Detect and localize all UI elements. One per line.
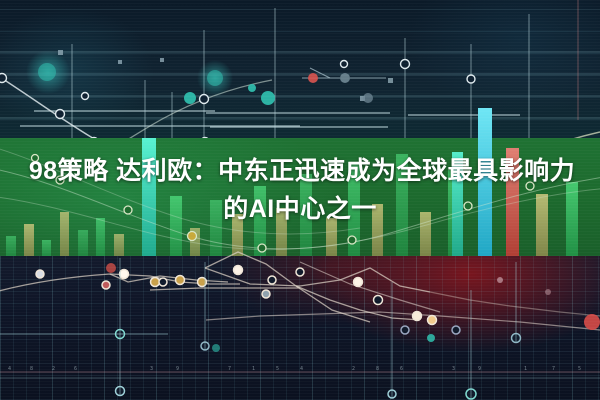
svg-text:5: 5 xyxy=(276,366,279,372)
svg-text:7: 7 xyxy=(552,366,555,372)
svg-text:2: 2 xyxy=(352,366,355,372)
svg-text:6: 6 xyxy=(400,366,403,372)
svg-text:4: 4 xyxy=(8,366,11,372)
svg-text:8: 8 xyxy=(30,366,33,372)
svg-text:5: 5 xyxy=(578,366,581,372)
svg-text:4: 4 xyxy=(300,366,303,372)
svg-text:3: 3 xyxy=(150,366,153,372)
svg-text:3: 3 xyxy=(452,366,455,372)
banner-image: 482 639 715 428 639 175 98策略 达利欧：中东正迅速成为… xyxy=(0,0,600,400)
network-line xyxy=(430,292,600,316)
network-line xyxy=(300,262,440,312)
network-line xyxy=(150,288,300,290)
network-line xyxy=(296,286,420,320)
network-line xyxy=(296,286,370,322)
svg-text:2: 2 xyxy=(52,366,55,372)
svg-text:1: 1 xyxy=(252,366,255,372)
headline-line-2: 的AI中心之一 xyxy=(0,190,600,228)
svg-text:6: 6 xyxy=(74,366,77,372)
svg-text:9: 9 xyxy=(176,366,179,372)
headline-block: 98策略 达利欧：中东正迅速成为全球最具影响力 的AI中心之一 xyxy=(0,152,600,228)
svg-text:9: 9 xyxy=(478,366,481,372)
axis-tick-row: 482 639 715 428 639 175 xyxy=(8,366,581,372)
svg-text:1: 1 xyxy=(524,366,527,372)
svg-text:8: 8 xyxy=(376,366,379,372)
headline-line-1: 98策略 达利欧：中东正迅速成为全球最具影响力 xyxy=(0,152,600,190)
svg-text:7: 7 xyxy=(228,366,231,372)
